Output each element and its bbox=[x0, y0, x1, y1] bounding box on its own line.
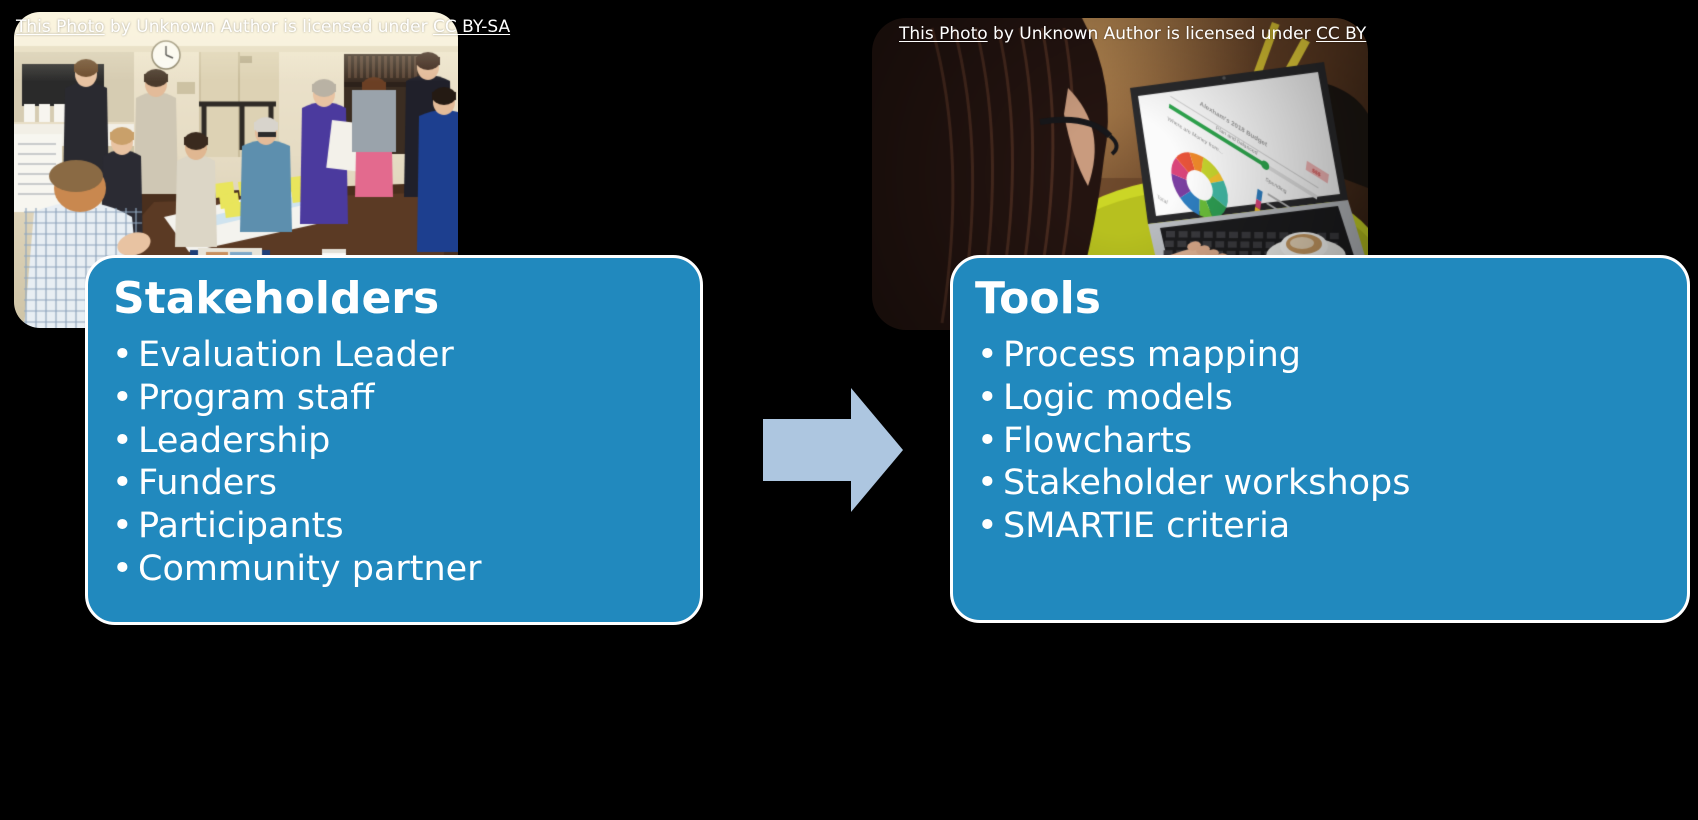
list-item: Logic models bbox=[975, 377, 1687, 420]
stakeholders-list: Evaluation Leader Program staff Leadersh… bbox=[88, 334, 700, 590]
stakeholders-card-title: Stakeholders bbox=[88, 276, 700, 322]
photo-attribution-left: This Photo by Unknown Author is licensed… bbox=[16, 17, 510, 37]
list-item: Evaluation Leader bbox=[110, 334, 700, 377]
slide-canvas: This Photo by Unknown Author is licensed… bbox=[0, 0, 1698, 820]
attribution-middle-left: by Unknown Author is licensed under bbox=[105, 17, 433, 37]
attribution-middle-right: by Unknown Author is licensed under bbox=[988, 24, 1316, 44]
tools-card-title: Tools bbox=[953, 276, 1687, 322]
list-item: Funders bbox=[110, 462, 700, 505]
list-item: Leadership bbox=[110, 420, 700, 463]
list-item: Process mapping bbox=[975, 334, 1687, 377]
list-item: Stakeholder workshops bbox=[975, 462, 1687, 505]
attribution-license-right[interactable]: CC BY bbox=[1316, 24, 1366, 44]
list-item: Participants bbox=[110, 505, 700, 548]
tools-list: Process mapping Logic models Flowcharts … bbox=[953, 334, 1687, 547]
list-item: SMARTIE criteria bbox=[975, 505, 1687, 548]
attribution-link-right[interactable]: This Photo bbox=[899, 24, 988, 44]
list-item: Program staff bbox=[110, 377, 700, 420]
attribution-license-left[interactable]: CC BY-SA bbox=[433, 17, 510, 37]
right-arrow-icon bbox=[763, 388, 903, 512]
list-item: Community partner bbox=[110, 548, 700, 591]
tools-card: Tools Process mapping Logic models Flowc… bbox=[950, 255, 1690, 623]
photo-attribution-right: This Photo by Unknown Author is licensed… bbox=[899, 24, 1366, 44]
stakeholders-card: Stakeholders Evaluation Leader Program s… bbox=[85, 255, 703, 625]
list-item: Flowcharts bbox=[975, 420, 1687, 463]
attribution-link-left[interactable]: This Photo bbox=[16, 17, 105, 37]
